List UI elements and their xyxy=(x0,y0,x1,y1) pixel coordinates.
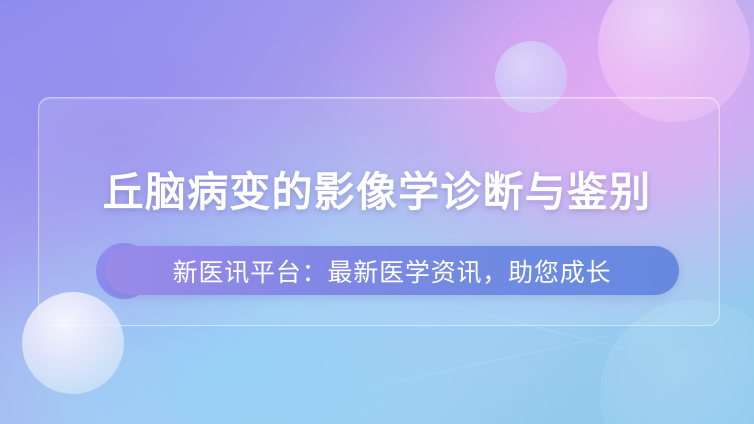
subtitle-pill: 新医讯平台：最新医学资讯，助您成长 xyxy=(105,246,679,295)
presentation-slide: 丘脑病变的影像学诊断与鉴别 新医讯平台：最新医学资讯，助您成长 xyxy=(0,0,754,424)
subtitle-text: 新医讯平台：最新医学资讯，助您成长 xyxy=(173,253,612,289)
slide-title: 丘脑病变的影像学诊断与鉴别 xyxy=(0,170,754,215)
slide-content: 丘脑病变的影像学诊断与鉴别 新医讯平台：最新医学资讯，助您成长 xyxy=(0,0,754,424)
